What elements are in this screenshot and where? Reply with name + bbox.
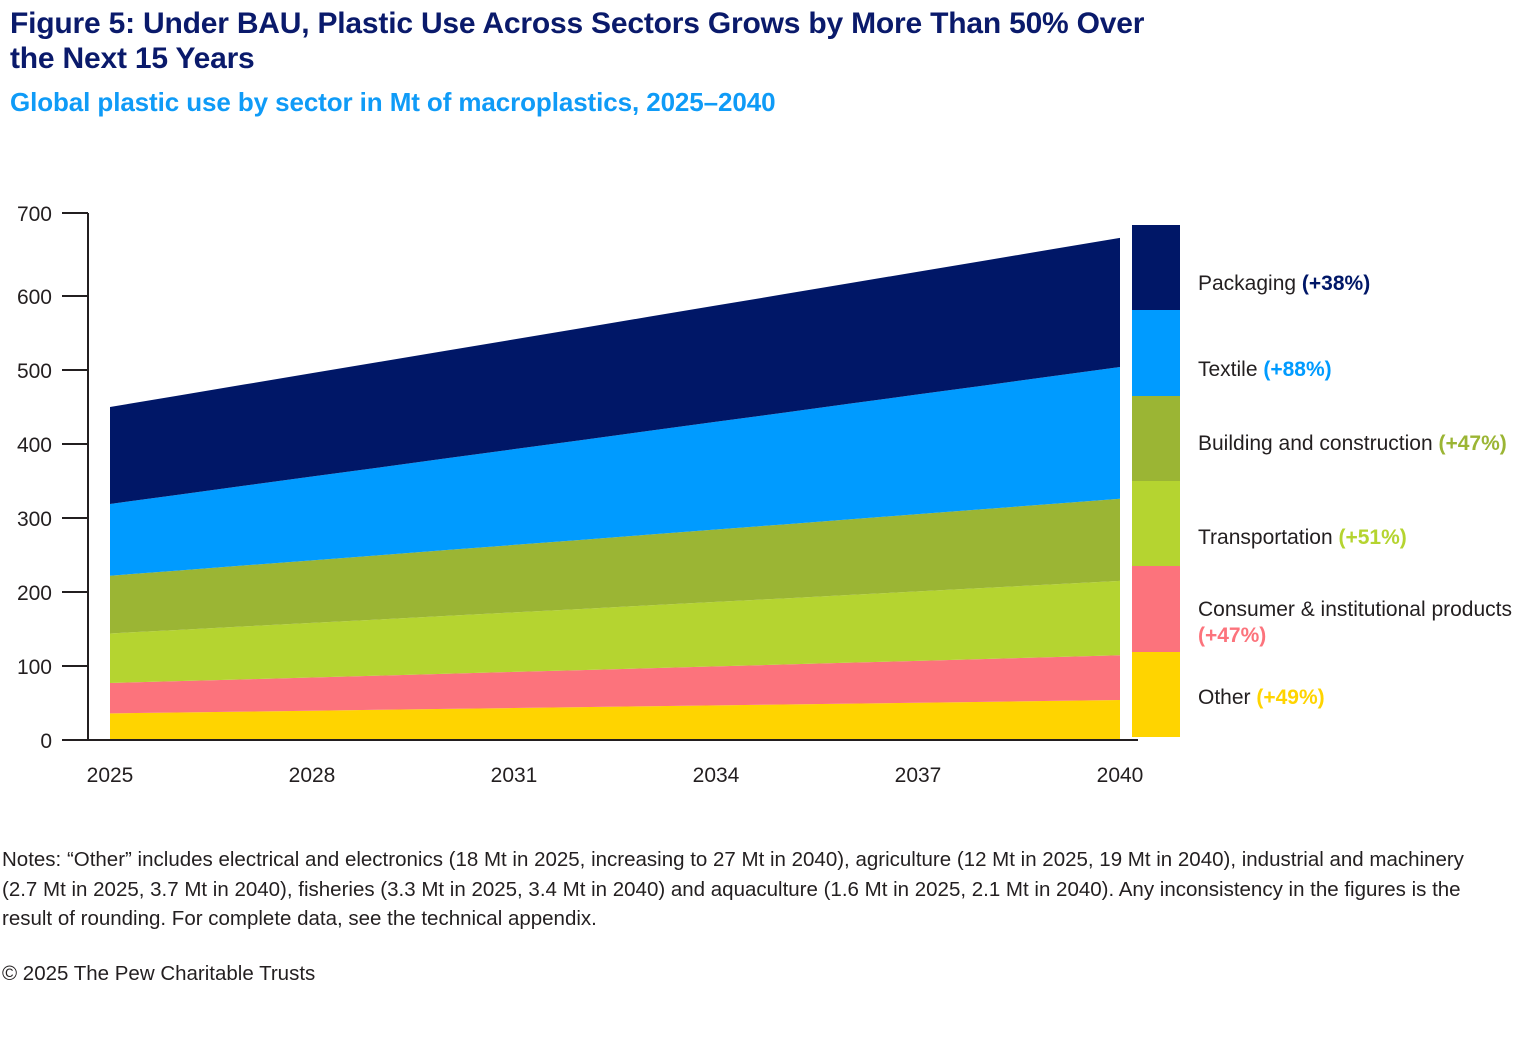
x-axis-tick-label: 2031 — [491, 764, 538, 787]
x-axis-tick-label: 2034 — [693, 764, 740, 787]
figure-subtitle: Global plastic use by sector in Mt of ma… — [10, 87, 1510, 118]
legend-item-name: Building and construction — [1198, 432, 1439, 455]
y-axis-tick-label: 100 — [17, 656, 52, 679]
legend-item-change: (+49%) — [1256, 686, 1324, 709]
legend-swatch — [1132, 225, 1180, 310]
y-axis-tick-label: 400 — [17, 434, 52, 457]
legend-item-name: Packaging — [1198, 272, 1302, 295]
legend-swatch — [1132, 566, 1180, 651]
y-axis-tick-label: 500 — [17, 360, 52, 383]
y-axis-tick-label: 200 — [17, 582, 52, 605]
notes-text: Notes: “Other” includes electrical and e… — [2, 845, 1502, 934]
legend-item-name: Consumer & institutional products — [1198, 598, 1512, 621]
legend-item-change: (+51%) — [1338, 526, 1406, 549]
legend-swatch — [1132, 481, 1180, 566]
legend-item-label[interactable]: Packaging (+38%) — [1198, 271, 1520, 297]
y-axis-tick-label: 300 — [17, 508, 52, 531]
legend-item-name: Textile — [1198, 358, 1263, 381]
legend-item-change: (+47%) — [1198, 624, 1266, 647]
y-axis-tick-label: 0 — [40, 730, 52, 753]
title-block: Figure 5: Under BAU, Plastic Use Across … — [0, 0, 1520, 118]
legend-item-change: (+88%) — [1263, 358, 1331, 381]
legend-swatch-column — [1132, 225, 1180, 737]
legend-item-change: (+47%) — [1439, 432, 1507, 455]
y-axis-tick-label: 700 — [17, 203, 52, 226]
notes-block: Notes: “Other” includes electrical and e… — [2, 845, 1514, 988]
area-series-group — [110, 238, 1120, 740]
x-axis-tick-label: 2037 — [895, 764, 942, 787]
figure-title: Figure 5: Under BAU, Plastic Use Across … — [10, 6, 1190, 77]
legend-item-label[interactable]: Other (+49%) — [1198, 685, 1520, 711]
legend-item-name: Transportation — [1198, 526, 1338, 549]
legend-item-name: Other — [1198, 686, 1256, 709]
x-axis-tick-label: 2025 — [87, 764, 134, 787]
legend-swatch — [1132, 652, 1180, 737]
x-axis-tick-label: 2040 — [1097, 764, 1144, 787]
chart-legend: Packaging (+38%)Textile (+88%)Building a… — [1132, 225, 1520, 737]
legend-item-label[interactable]: Consumer & institutional products (+47%) — [1198, 597, 1520, 648]
y-axis-tick-label: 600 — [17, 286, 52, 309]
legend-item-change: (+38%) — [1302, 272, 1370, 295]
x-axis-tick-label: 2028 — [289, 764, 336, 787]
legend-item-label[interactable]: Textile (+88%) — [1198, 357, 1520, 383]
legend-item-label[interactable]: Building and construction (+47%) — [1198, 431, 1520, 457]
legend-item-label[interactable]: Transportation (+51%) — [1198, 525, 1520, 551]
legend-swatch — [1132, 396, 1180, 481]
legend-swatch — [1132, 310, 1180, 395]
copyright-text: © 2025 The Pew Charitable Trusts — [2, 960, 1514, 989]
